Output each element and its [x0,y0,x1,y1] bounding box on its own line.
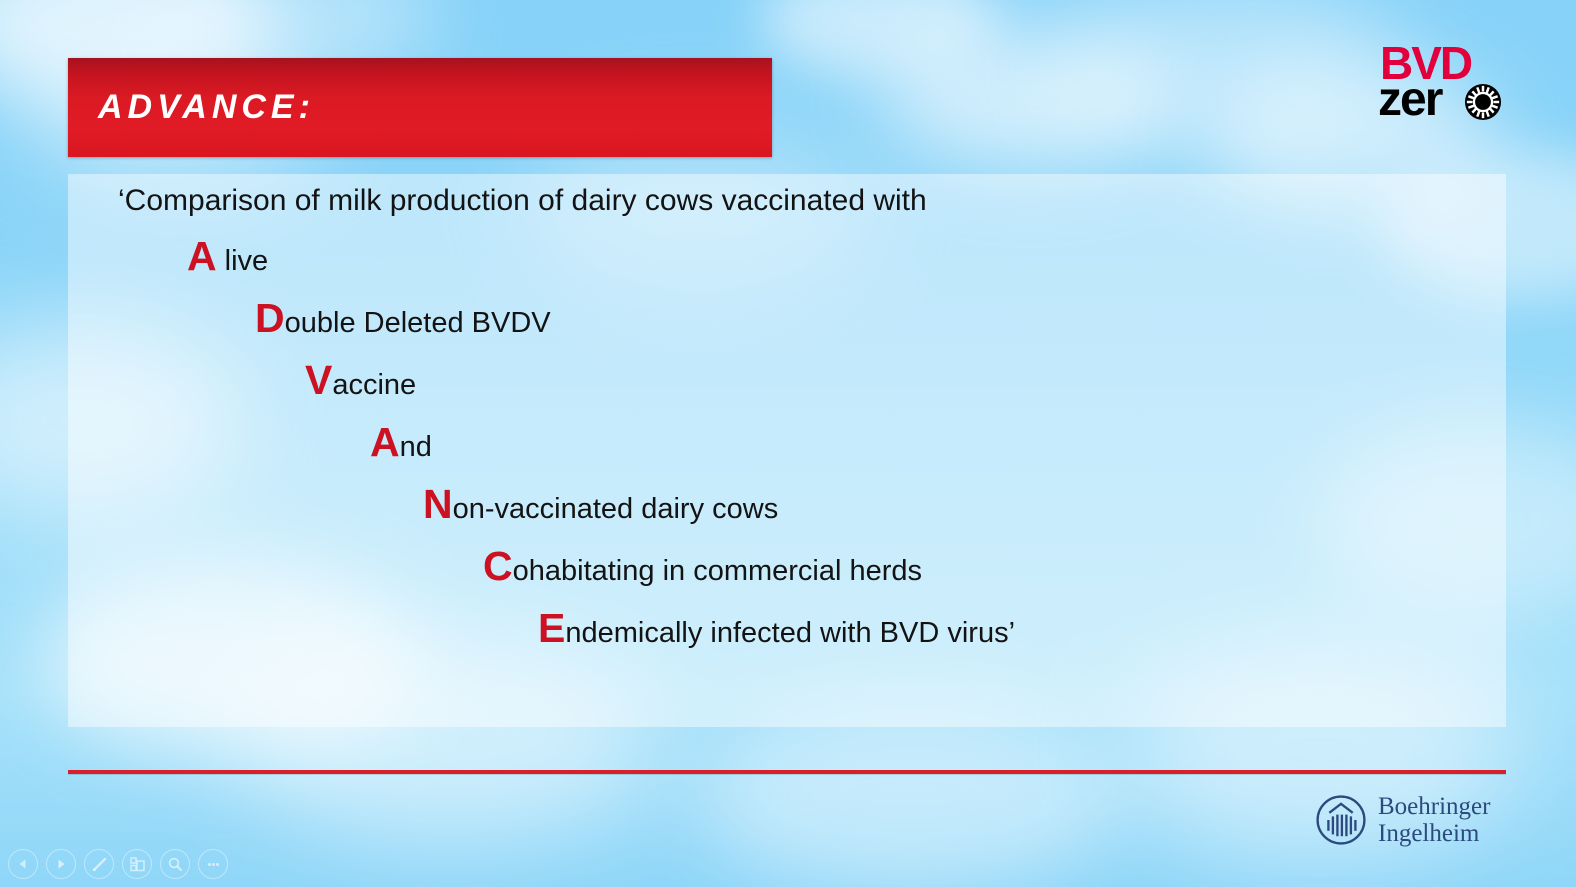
footer-divider [68,770,1506,774]
ellipsis-icon [205,856,222,873]
acrostic-capital: C [483,543,513,589]
acrostic-text: live [217,245,269,277]
boehringer-ingelheim-logo: Boehringer Ingelheim [1314,790,1510,850]
pen-tool-button[interactable] [84,849,114,879]
acrostic-text: nd [400,431,432,463]
triangle-left-icon [16,857,30,871]
bi-arch-mark-icon [1314,793,1368,847]
acrostic-text: on-vaccinated dairy cows [453,493,779,525]
acrostic-line-n-nonvaccinated: Non-vaccinated dairy cows [423,484,778,525]
acrostic-text: ndemically infected with BVD virus’ [565,617,1015,649]
study-title-intro: ‘Comparison of milk production of dairy … [118,184,927,218]
bi-wordmark: Boehringer Ingelheim [1378,793,1490,847]
acrostic-line-e-endemically: Endemically infected with BVD virus’ [538,608,1015,649]
magnifier-icon [167,856,184,873]
slide-content-panel: ‘Comparison of milk production of dairy … [68,174,1506,727]
acrostic-capital: A [370,419,400,465]
page-title: ADVANCE: [68,88,315,127]
acrostic-text: ouble Deleted BVDV [285,307,551,339]
acrostic-text: accine [332,369,416,401]
presentation-controls [8,849,228,879]
bvd-logo-bottom-word: zer [1378,76,1441,124]
bi-wordmark-line2: Ingelheim [1378,820,1490,847]
more-options-button[interactable] [198,849,228,879]
slide-title-banner: ADVANCE: [68,58,772,157]
acrostic-capital: D [255,295,285,341]
bi-wordmark-line1: Boehringer [1378,793,1490,820]
presentation-slide: ADVANCE: BVD zer [0,0,1576,887]
bvd-zero-logo: BVD zer [1378,40,1508,132]
acrostic-capital: V [305,357,332,403]
acrostic-line-c-cohabitating: Cohabitating in commercial herds [483,546,922,587]
zoom-tool-button[interactable] [160,849,190,879]
acrostic-text: ohabitating in commercial herds [513,555,922,587]
slide-overview-button[interactable] [122,849,152,879]
grid-squares-icon [129,856,146,873]
acrostic-capital: A [187,233,217,279]
acrostic-line-d-double: Double Deleted BVDV [255,298,551,339]
previous-slide-button[interactable] [8,849,38,879]
acrostic-line-a-and: And [370,422,432,463]
acrostic-capital: E [538,605,565,651]
acrostic-capital: N [423,481,453,527]
acrostic-line-v-vaccine: Vaccine [305,360,416,401]
acrostic-line-a-live: A live [187,236,268,277]
virus-o-icon [1464,83,1502,121]
triangle-right-icon [54,857,68,871]
next-slide-button[interactable] [46,849,76,879]
pen-icon [91,856,108,873]
